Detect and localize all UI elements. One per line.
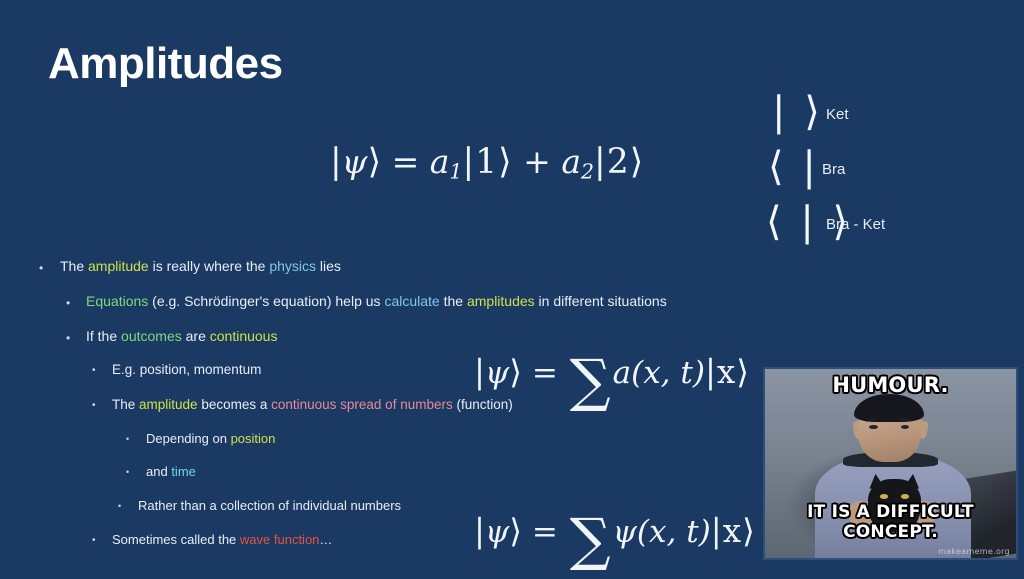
bullet-text-run: wave function [240, 532, 320, 547]
bullet-marker-icon: • [126, 468, 129, 477]
meme-caption-bottom: IT IS A DIFFICULT CONCEPT. [765, 502, 1016, 542]
legend-row-braket: ⟨ | ⟩ Bra - Ket [766, 202, 1016, 257]
meme-image: HUMOUR. IT IS A DIFFICULT CONCEPT. makea… [763, 367, 1018, 560]
bullet-text-run: and [146, 464, 171, 479]
bullet-text: Rather than a collection of individual n… [138, 498, 401, 514]
bullet-text-run: calculate [384, 293, 439, 309]
legend-label-braket: Bra - Ket [826, 216, 885, 233]
ket-bar: | [330, 142, 342, 182]
bullet-text-run: in different situations [535, 293, 667, 309]
ket-x: |x⟩ [711, 512, 756, 550]
bullet-text-run: Depending on [146, 431, 231, 446]
meme-caption-top: HUMOUR. [765, 373, 1016, 397]
bullet-item: •and time [34, 464, 714, 480]
spock-eye-left [869, 425, 878, 429]
equals-sign: = [392, 142, 420, 181]
bullet-item: •The amplitude is really where the physi… [34, 258, 714, 275]
ket-notation-icon: | ⟩ [772, 92, 823, 132]
bullet-text-run: continuous [210, 328, 278, 344]
bullet-text-run: lies [316, 258, 341, 274]
bullet-text-run: … [319, 532, 332, 547]
bullet-text-run: Rather than a collection of individual n… [138, 498, 401, 513]
braket-legend: | ⟩ Ket ⟨ | Bra ⟨ | ⟩ Bra - Ket [766, 92, 1016, 257]
legend-row-bra: ⟨ | Bra [766, 147, 1016, 202]
legend-row-ket: | ⟩ Ket [766, 92, 1016, 147]
cat-eye-left [880, 494, 888, 499]
bullet-marker-icon: • [118, 502, 121, 511]
bullet-text-run: If the [86, 328, 121, 344]
bullet-text: Sometimes called the wave function… [112, 532, 332, 548]
bullet-marker-icon: • [92, 536, 96, 546]
bullet-marker-icon: • [39, 262, 43, 274]
bullet-item: •Depending on position [34, 431, 714, 447]
bullet-list: •The amplitude is really where the physi… [34, 258, 714, 547]
bullet-text: E.g. position, momentum [112, 362, 261, 378]
bullet-text-run: is really where the [149, 258, 270, 274]
coefficient-a2-subscript: 2 [581, 160, 594, 184]
bullet-text-run: E.g. position, momentum [112, 362, 261, 377]
bullet-text-run: Equations [86, 293, 148, 309]
bullet-text-run: The [112, 397, 139, 412]
ket-one: |1⟩ [462, 142, 512, 182]
bullet-text-run: continuous spread of numbers [271, 397, 453, 412]
bullet-text: The amplitude is really where the physic… [60, 258, 341, 275]
bullet-item: •If the outcomes are continuous [34, 328, 714, 345]
bullet-text: and time [146, 464, 196, 480]
bullet-marker-icon: • [92, 401, 96, 411]
bullet-marker-icon: • [92, 366, 96, 376]
bullet-text-run: becomes a [198, 397, 272, 412]
bullet-item: •Sometimes called the wave function… [34, 532, 714, 548]
bullet-text-run: are [182, 328, 210, 344]
bullet-text-run: (function) [453, 397, 513, 412]
page-title: Amplitudes [48, 40, 283, 88]
bullet-text-run: position [231, 431, 276, 446]
cat-eye-right [901, 494, 909, 499]
bullet-marker-icon: • [66, 332, 70, 344]
bullet-text: If the outcomes are continuous [86, 328, 277, 345]
equation-superposition: |ψ⟩ = a1|1⟩ + a2|2⟩ [330, 145, 644, 182]
bra-notation-icon: ⟨ | [768, 147, 819, 187]
ket-close: ⟩ [368, 142, 382, 182]
bullet-text: The amplitude becomes a continuous sprea… [112, 397, 513, 413]
bullet-item: •Rather than a collection of individual … [34, 498, 714, 514]
spock-eye-right [901, 425, 910, 429]
bullet-text-run: Sometimes called the [112, 532, 240, 547]
coefficient-a2: a [561, 142, 581, 181]
bullet-text-run: amplitudes [467, 293, 535, 309]
coefficient-a1: a [430, 142, 450, 181]
coefficient-a1-subscript: 1 [449, 160, 462, 184]
psi-symbol: ψ [342, 142, 368, 181]
meme-watermark: makeameme.org [938, 547, 1010, 556]
bullet-text-run: (e.g. Schrödinger's equation) help us [148, 293, 384, 309]
bullet-marker-icon: • [126, 435, 129, 444]
bullet-item: •E.g. position, momentum [34, 362, 714, 378]
bullet-text-run: outcomes [121, 328, 182, 344]
plus-sign: + [523, 142, 551, 181]
bullet-text-run: amplitude [88, 258, 149, 274]
bullet-item: •The amplitude becomes a continuous spre… [34, 397, 714, 413]
bullet-text-run: physics [269, 258, 316, 274]
bullet-text-run: time [171, 464, 196, 479]
bullet-item: •Equations (e.g. Schrödinger's equation)… [34, 293, 714, 310]
legend-label-bra: Bra [822, 161, 845, 178]
legend-label-ket: Ket [826, 106, 849, 123]
bullet-text-run: The [60, 258, 88, 274]
bullet-text-run: the [440, 293, 467, 309]
ket-two: |2⟩ [594, 142, 644, 182]
bullet-text: Depending on position [146, 431, 275, 447]
bullet-marker-icon: • [66, 297, 70, 309]
bullet-text: Equations (e.g. Schrödinger's equation) … [86, 293, 667, 310]
slide-canvas: Amplitudes |ψ⟩ = a1|1⟩ + a2|2⟩ |ψ⟩ = ∑a(… [0, 0, 1024, 579]
spock-hair [854, 394, 924, 422]
bullet-text-run: amplitude [139, 397, 198, 412]
